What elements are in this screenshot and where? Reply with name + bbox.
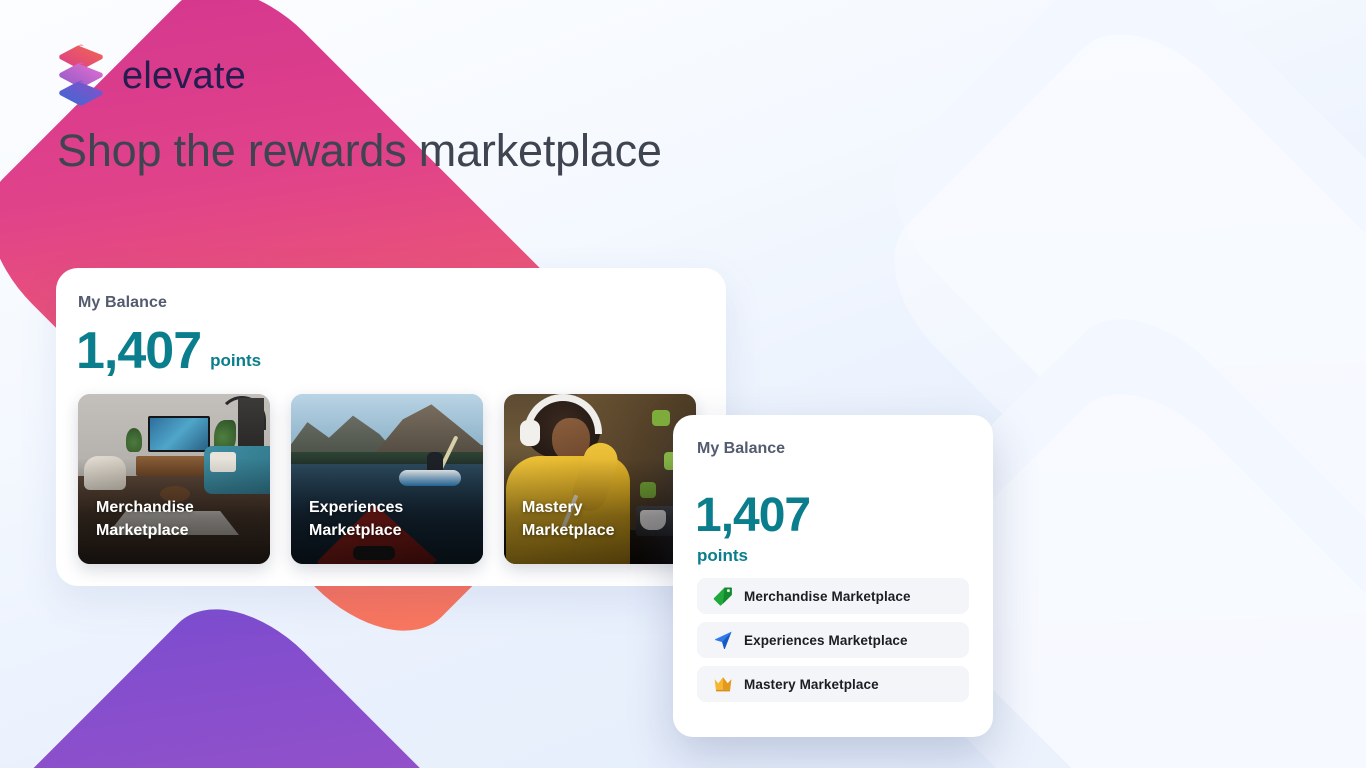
balance-card-points: 1,407 points <box>76 325 261 377</box>
list-item-label: Mastery Marketplace <box>744 677 879 692</box>
tile-title: Merchandise Marketplace <box>96 496 194 542</box>
gold-crown-icon <box>713 674 733 694</box>
tile-experiences-marketplace[interactable]: Experiences Marketplace <box>291 394 483 564</box>
tile-title: Experiences Marketplace <box>309 496 403 542</box>
tile-merchandise-marketplace[interactable]: Merchandise Marketplace <box>78 394 270 564</box>
list-item-label: Merchandise Marketplace <box>744 589 911 604</box>
green-tag-icon <box>713 586 733 606</box>
brand-name: elevate <box>122 55 246 98</box>
brand-logo[interactable]: elevate <box>58 44 246 108</box>
background-rhombus-middle <box>0 575 665 768</box>
overlay-points-value: 1,407 <box>695 492 810 540</box>
list-item-label: Experiences Marketplace <box>744 633 908 648</box>
list-item-experiences-marketplace[interactable]: Experiences Marketplace <box>697 622 969 658</box>
tile-mastery-marketplace[interactable]: Mastery Marketplace <box>504 394 696 564</box>
marketplace-tiles: Merchandise Marketplace Experiences Mark… <box>78 394 696 564</box>
overlay-balance-label: My Balance <box>697 440 785 458</box>
overlay-marketplace-list: Merchandise Marketplace Experiences Mark… <box>697 578 969 702</box>
page-title: Shop the rewards marketplace <box>57 125 662 177</box>
stacked-layers-logo-icon <box>58 44 104 108</box>
tile-title: Mastery Marketplace <box>522 496 615 542</box>
balance-card-label: My Balance <box>78 294 167 312</box>
balance-points-unit: points <box>210 351 261 377</box>
balance-points-value: 1,407 <box>76 325 201 377</box>
list-item-mastery-marketplace[interactable]: Mastery Marketplace <box>697 666 969 702</box>
overlay-points-unit: points <box>697 546 748 566</box>
blue-navigation-arrow-icon <box>713 630 733 650</box>
list-item-merchandise-marketplace[interactable]: Merchandise Marketplace <box>697 578 969 614</box>
